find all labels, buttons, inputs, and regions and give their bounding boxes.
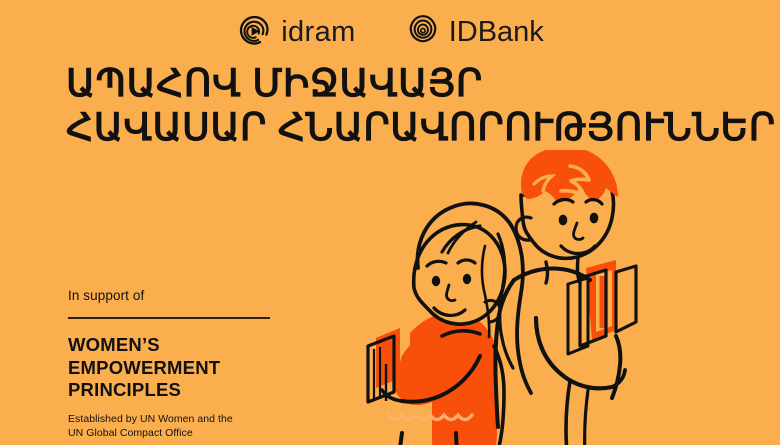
logo-row: idram IDBank <box>0 12 780 53</box>
idbank-rounded-triangle-icon <box>406 13 440 52</box>
idbank-logo[interactable]: IDBank <box>406 13 544 52</box>
wep-divider <box>68 317 270 319</box>
wep-title-line-1: WOMEN’S <box>68 334 288 357</box>
wep-attribution-line-1: Established by UN Women and the <box>68 413 288 427</box>
wep-title-line-3: PRINCIPLES <box>68 379 288 402</box>
wep-title-line-2: EMPOWERMENT <box>68 357 288 380</box>
wep-title: WOMEN’S EMPOWERMENT PRINCIPLES <box>68 334 288 402</box>
headline-line-1: ԱՊԱՀՈՎ ՄԻՋԱՎԱՅՐ <box>66 62 766 106</box>
headline: ԱՊԱՀՈՎ ՄԻՋԱՎԱՅՐ ՀԱՎԱՍԱՐ ՀՆԱՐԱՎՈՐՈՒԹՅՈՒՆՆ… <box>66 62 766 150</box>
wep-attribution: Established by UN Women and the UN Globa… <box>68 413 288 441</box>
wep-endorsement-block: In support of WOMEN’S EMPOWERMENT PRINCI… <box>68 288 288 441</box>
banner-root: idram IDBank ԱՊԱՀՈՎ ՄԻՋԱՎԱՅՐ ՀԱՎԱՍԱՐ ՀՆԱ… <box>0 0 780 445</box>
wep-attribution-line-2: UN Global Compact Office <box>68 427 288 441</box>
idram-logo[interactable]: idram <box>236 12 356 53</box>
headline-line-2: ՀԱՎԱՍԱՐ ՀՆԱՐԱՎՈՐՈՒԹՅՈՒՆՆԵՐ <box>66 106 766 150</box>
girl-figure <box>368 203 531 445</box>
idram-spiral-play-icon <box>236 12 272 53</box>
students-illustration <box>330 150 690 445</box>
idram-wordmark: idram <box>281 18 356 47</box>
idbank-wordmark: IDBank <box>449 18 544 47</box>
boy-figure <box>495 150 636 445</box>
wep-intro-text: In support of <box>68 288 288 304</box>
